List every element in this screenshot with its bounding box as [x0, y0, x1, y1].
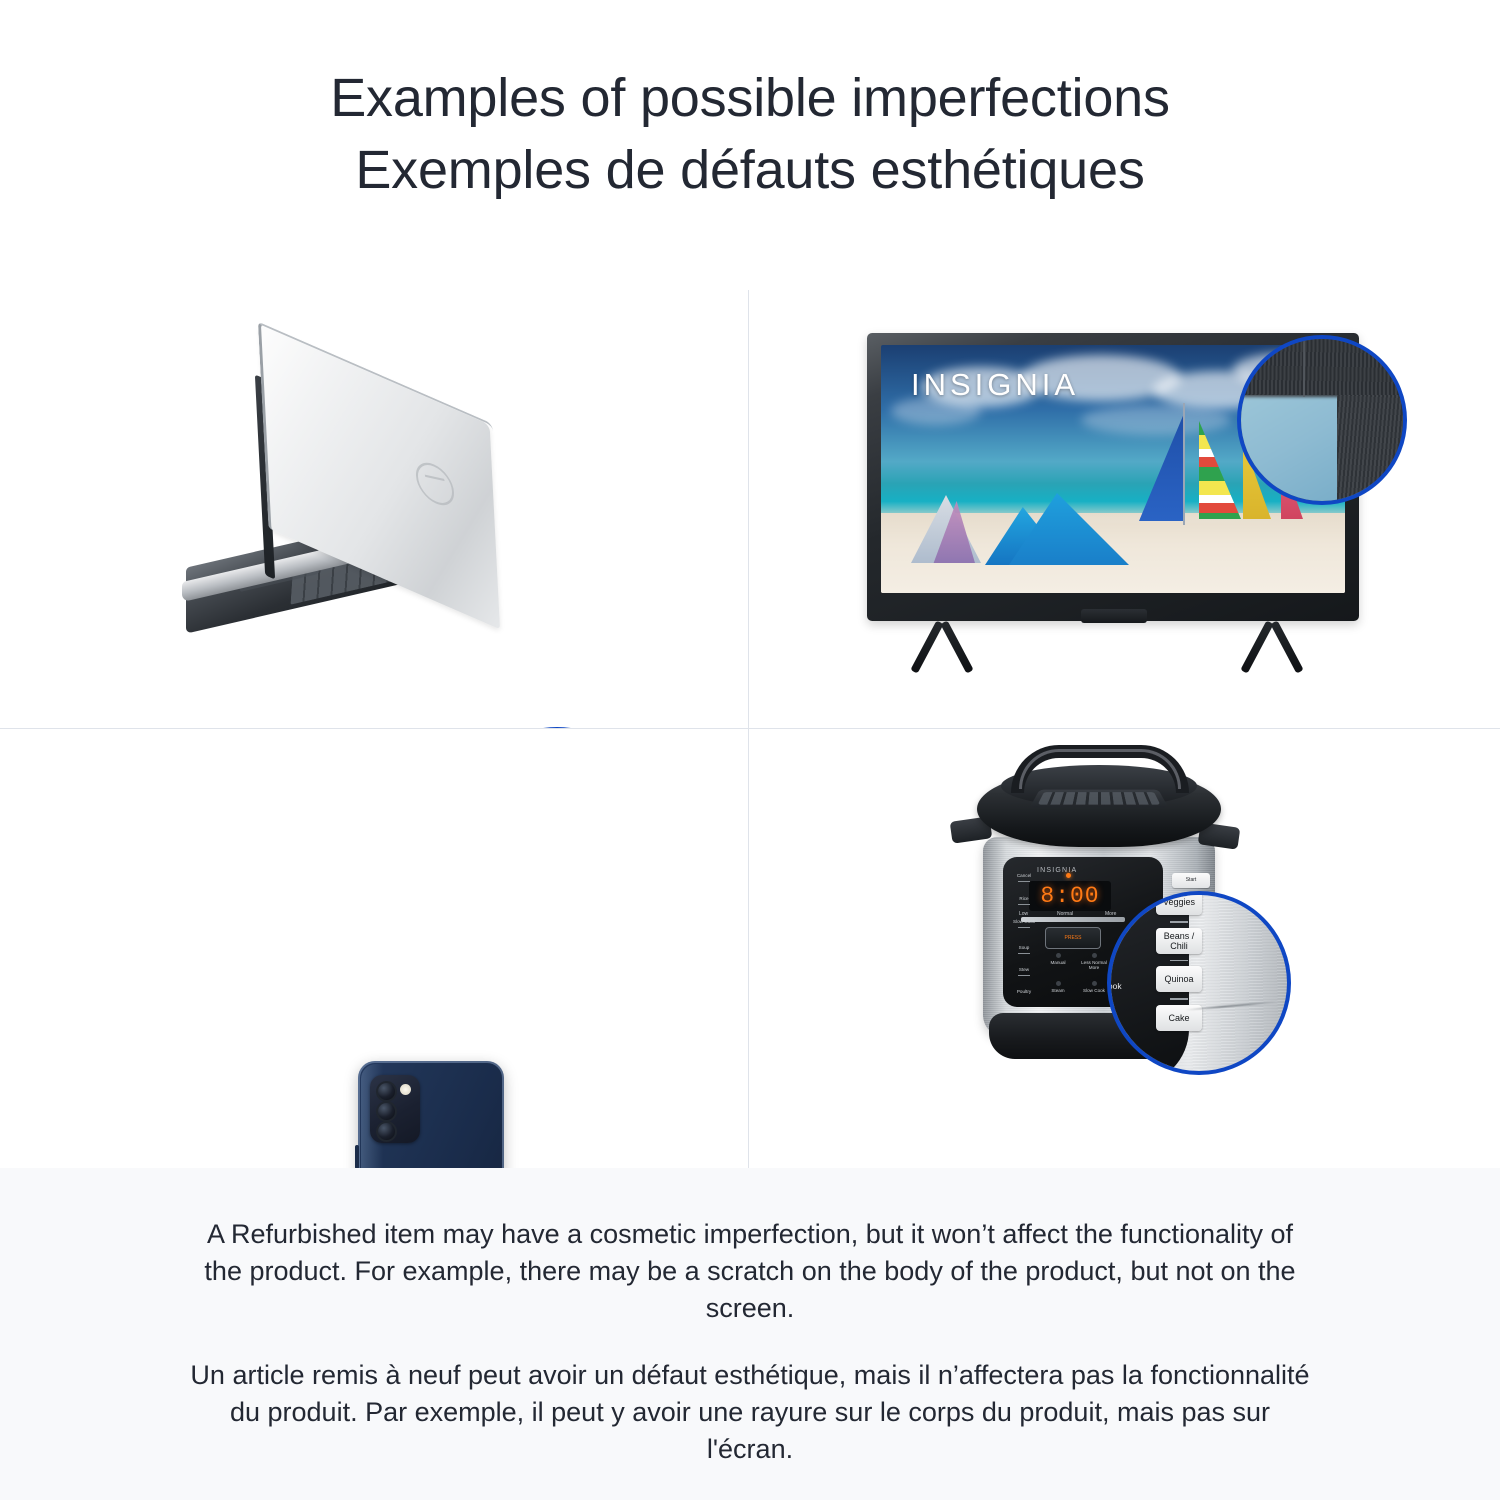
- bar-label-low: Low: [1019, 911, 1028, 917]
- magnifier-tv-bezel-defect: [1237, 335, 1407, 505]
- disclaimer-footer: A Refurbished item may have a cosmetic i…: [0, 1168, 1500, 1500]
- cooker-button-quinoa-magnified[interactable]: Quinoa: [1156, 966, 1202, 992]
- cooker-button-poultry[interactable]: Poultry: [1011, 989, 1037, 994]
- tv-stand-center: [1081, 609, 1147, 623]
- bezel-seam: [1303, 335, 1305, 397]
- cooker-handle-highlight: [1019, 749, 1181, 789]
- knob-label: PRESS: [1065, 935, 1082, 941]
- magnified-label-slow-cook: Slow Cook: [1107, 981, 1122, 991]
- cooker-button-rice[interactable]: Rice: [1011, 896, 1037, 907]
- insignia-screen-logo: INSIGNIA: [911, 367, 1079, 403]
- magnifier-laptop-scratch: [462, 727, 652, 728]
- sailboat-striped: [1199, 421, 1241, 519]
- magnifier-cooker-scratch: Delay Slow Cook Veggies Beans / Chili Qu…: [1107, 891, 1291, 1075]
- cooker-pressure-cook-button[interactable]: PRESS: [1045, 927, 1101, 949]
- cooker-button-soup[interactable]: Soup: [1011, 945, 1037, 956]
- camera-lens-icon: [376, 1121, 397, 1142]
- cooker-button-beans-chili-magnified[interactable]: Beans / Chili: [1156, 928, 1202, 954]
- phone-camera-module: [370, 1075, 420, 1143]
- status-led-icon: [1066, 873, 1071, 878]
- phone-power-button: [355, 1145, 359, 1168]
- cooker-lid-vents: [1038, 792, 1161, 805]
- disclaimer-text-en: A Refurbished item may have a cosmetic i…: [185, 1216, 1315, 1327]
- panel-smartphone: [0, 729, 748, 1168]
- smartphone-image: [358, 1061, 518, 1168]
- divider: [1170, 960, 1188, 962]
- disclaimer-text-fr: Un article remis à neuf peut avoir un dé…: [185, 1357, 1315, 1468]
- sailboat-mast: [1183, 403, 1185, 525]
- bar-label-normal: Normal: [1057, 911, 1073, 917]
- cooker-button-steam[interactable]: Steam: [1041, 981, 1075, 993]
- page-title-fr: Exemples de défauts esthétiques: [355, 134, 1144, 206]
- page-header: Examples of possible imperfections Exemp…: [0, 0, 1500, 255]
- magnified-bezel-top: [1237, 335, 1407, 395]
- tv-foot: [1240, 620, 1273, 673]
- television-image: INSIGNIA: [867, 333, 1377, 663]
- cooker-button-manual[interactable]: Manual: [1041, 953, 1075, 965]
- camera-flash-icon: [400, 1084, 411, 1095]
- cooker-button-start[interactable]: Start: [1172, 873, 1210, 888]
- tv-foot: [910, 620, 943, 673]
- tv-foot: [940, 620, 973, 673]
- divider: [1170, 998, 1188, 1000]
- panel-pressure-cooker: INSIGNIA 8:00 Low Normal More PRESS Canc…: [749, 729, 1500, 1168]
- laptop-image: [180, 375, 560, 645]
- pressure-cooker-image: INSIGNIA 8:00 Low Normal More PRESS Canc…: [949, 741, 1269, 1081]
- camera-lens-icon: [376, 1081, 397, 1102]
- camera-lens-icon: [376, 1101, 397, 1122]
- cooker-display-time: 8:00: [1040, 883, 1099, 909]
- cooker-button-cancel[interactable]: Cancel: [1011, 873, 1037, 884]
- cooker-button-stew[interactable]: Stew: [1011, 967, 1037, 978]
- page-title-en: Examples of possible imperfections: [330, 62, 1170, 134]
- magnified-preset-column: Veggies Beans / Chili Quinoa Cake: [1155, 891, 1203, 1037]
- cooker-display: 8:00: [1029, 881, 1111, 911]
- tv-foot: [1270, 620, 1303, 673]
- cooker-button-veggies-magnified[interactable]: Veggies: [1156, 891, 1202, 915]
- cooker-button-slowcook2[interactable]: Slow Cook: [1077, 981, 1111, 993]
- panel-laptop: [0, 255, 748, 728]
- product-example-grid: INSIGNIA: [0, 255, 1500, 1168]
- cooker-button-slow-cook[interactable]: Slow Cook: [1011, 919, 1037, 930]
- cloud-shape: [1081, 405, 1231, 435]
- panel-television: INSIGNIA: [749, 255, 1500, 728]
- divider: [1170, 921, 1188, 923]
- insignia-cooker-logo: INSIGNIA: [1037, 867, 1077, 874]
- cooker-button-adjust[interactable]: Less Normal More: [1077, 953, 1111, 971]
